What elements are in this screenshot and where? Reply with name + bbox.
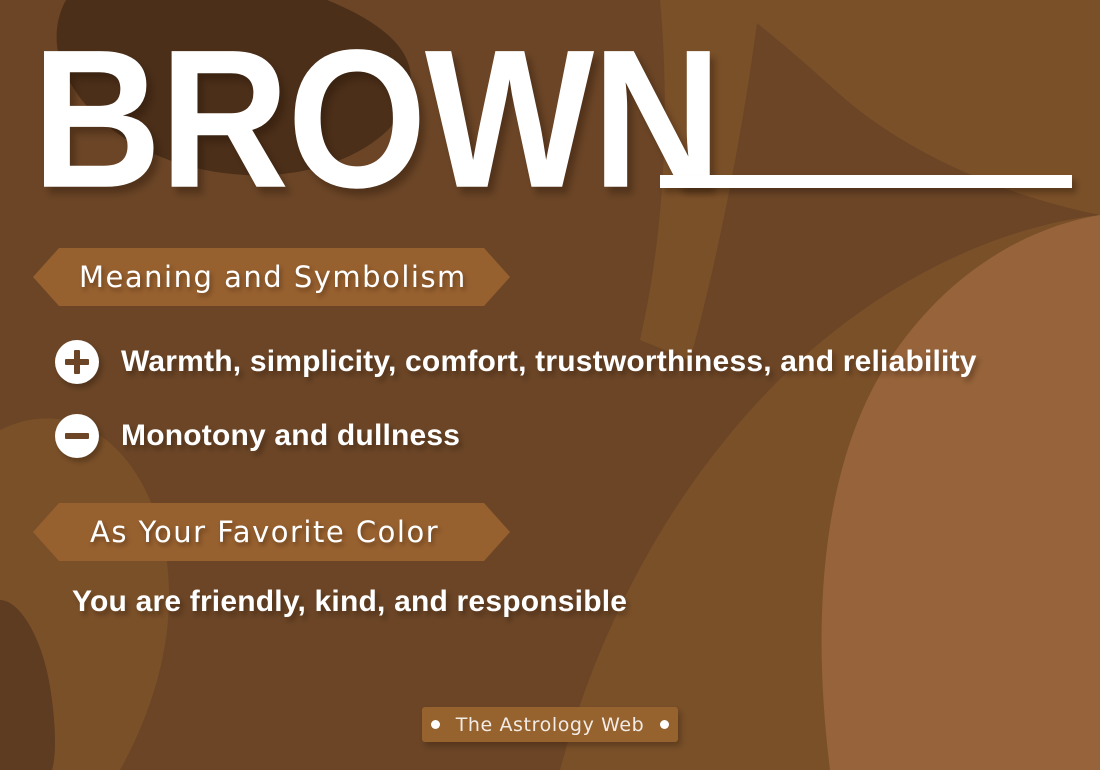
minus-icon (55, 414, 99, 458)
footer-brand-badge: The Astrology Web (422, 707, 678, 742)
section-heading-meaning-and-symbolism: Meaning and Symbolism (33, 248, 510, 306)
minus-icon-horizontal-bar (65, 433, 89, 439)
infographic-canvas: BROWN Meaning and Symbolism Warmth, simp… (0, 0, 1100, 770)
page-title-block: BROWN (0, 0, 1100, 210)
plus-icon (55, 340, 99, 384)
section-heading-label: Meaning and Symbolism (33, 260, 509, 294)
footer-brand-label: The Astrology Web (456, 714, 645, 736)
page-title: BROWN (32, 30, 720, 209)
blob-mid-center-sweep (560, 215, 1100, 770)
favorite-color-description: You are friendly, kind, and responsible (72, 585, 627, 619)
blob-dark-bottom-left-sliver (0, 600, 55, 770)
section-heading-as-your-favorite-color: As Your Favorite Color (33, 503, 510, 561)
section-heading-label: As Your Favorite Color (33, 515, 481, 549)
blob-light-bottom-right-edge (1008, 426, 1100, 770)
trait-row-positive: Warmth, simplicity, comfort, trustworthi… (55, 340, 977, 384)
blob-light-right (822, 215, 1100, 770)
trait-text-positive: Warmth, simplicity, comfort, trustworthi… (121, 345, 977, 379)
bullet-dot-icon-left (431, 720, 440, 729)
title-underline-rule (660, 175, 1072, 188)
trait-row-negative: Monotony and dullness (55, 414, 460, 458)
plus-icon-vertical-bar (74, 350, 80, 374)
trait-text-negative: Monotony and dullness (121, 419, 460, 453)
bullet-dot-icon-right (660, 720, 669, 729)
